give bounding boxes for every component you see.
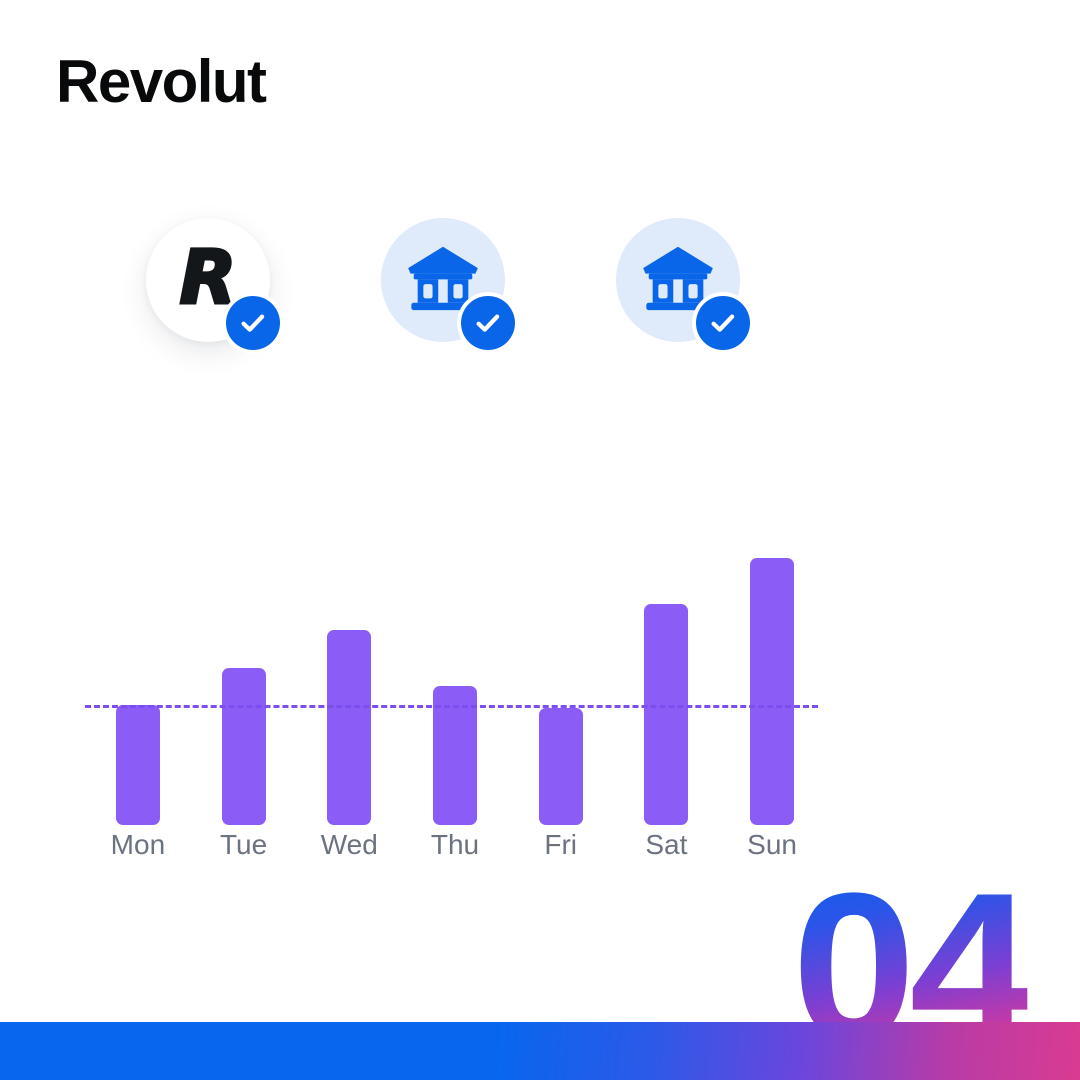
check-icon xyxy=(226,296,280,350)
chart-bar-fri[interactable] xyxy=(539,708,583,825)
x-label-fri: Fri xyxy=(501,828,621,862)
chart-bar-sun[interactable] xyxy=(750,558,794,825)
verified-check-badge xyxy=(457,292,519,354)
chart-bar-sat[interactable] xyxy=(644,604,688,825)
check-icon xyxy=(461,296,515,350)
chart-plot-area xyxy=(85,545,825,825)
x-label-thu: Thu xyxy=(395,828,515,862)
check-icon xyxy=(696,296,750,350)
slide-canvas: Revolut R xyxy=(0,0,1080,1080)
chart-bar-wed[interactable] xyxy=(327,630,371,825)
chart-bar-mon[interactable] xyxy=(116,705,160,825)
x-label-wed: Wed xyxy=(289,828,409,862)
x-label-tue: Tue xyxy=(184,828,304,862)
x-label-sat: Sat xyxy=(606,828,726,862)
verified-check-badge xyxy=(692,292,754,354)
average-dashed-line xyxy=(85,705,818,708)
account-circle-bank-2[interactable] xyxy=(616,218,740,342)
chart-bar-tue[interactable] xyxy=(222,668,266,825)
account-circle-bank-1[interactable] xyxy=(381,218,505,342)
x-label-mon: Mon xyxy=(78,828,198,862)
weekly-spending-chart: Mon Tue Wed Thu Fri Sat Sun xyxy=(85,545,825,835)
chart-x-axis-labels: Mon Tue Wed Thu Fri Sat Sun xyxy=(85,828,825,868)
brand-wordmark: Revolut xyxy=(56,52,266,112)
verified-check-badge xyxy=(222,292,284,354)
footer-gradient-band xyxy=(0,1022,1080,1080)
account-circle-revolut[interactable]: R xyxy=(146,218,270,342)
